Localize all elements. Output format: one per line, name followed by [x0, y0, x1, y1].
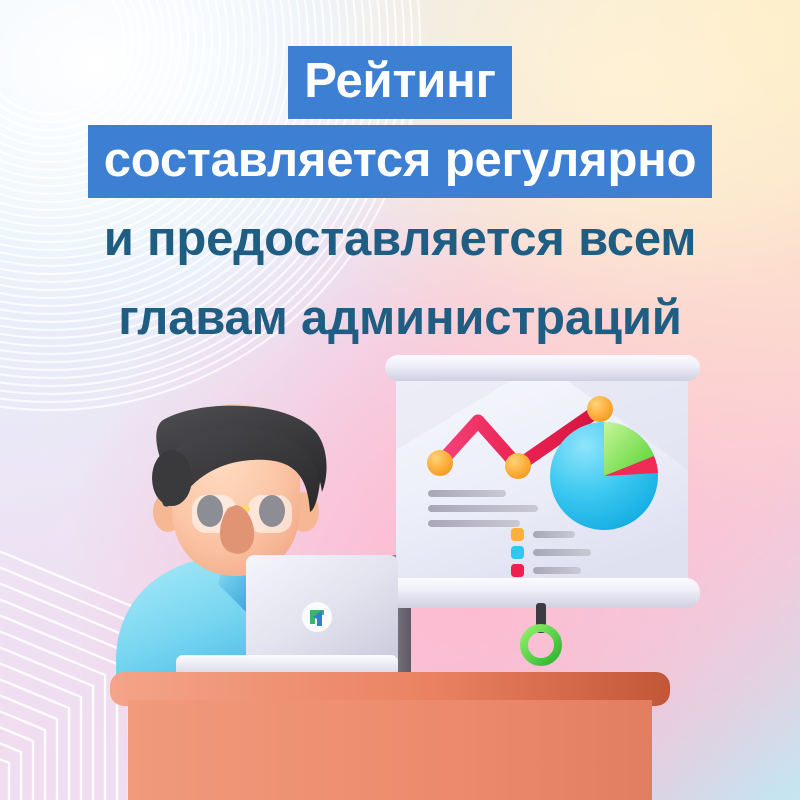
legend-swatch: [511, 528, 524, 541]
paragraph-bar: [428, 490, 506, 497]
legend-swatch: [511, 564, 524, 577]
legend-swatch: [511, 546, 524, 559]
line-chart-point: [587, 396, 613, 422]
person-sideburn: [152, 450, 192, 506]
legend-bar: [533, 531, 575, 538]
paragraph-bar: [428, 520, 520, 527]
desk-body: [128, 700, 652, 800]
line-chart-point: [505, 453, 531, 479]
board-pie-chart: [550, 422, 658, 530]
legend-bar: [533, 567, 581, 574]
paragraph-bar: [428, 505, 538, 512]
legend-bar: [533, 549, 591, 556]
line-chart-point: [427, 450, 453, 476]
person-eye: [259, 495, 285, 527]
board-pull-ring: [524, 628, 558, 662]
desk: [110, 672, 670, 800]
person-eye: [197, 495, 223, 527]
illustration-scene: [0, 0, 800, 800]
poster-root: Рейтинг составляется регулярно и предост…: [0, 0, 800, 800]
board-top-rail: [385, 355, 700, 381]
company-logo-icon: [310, 610, 324, 626]
presentation-board: [381, 355, 700, 685]
